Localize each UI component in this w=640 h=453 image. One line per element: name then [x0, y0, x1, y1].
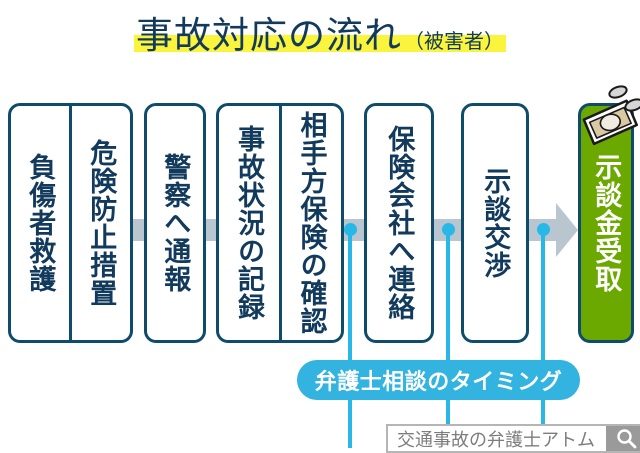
- timing-marker-dot-1: [344, 223, 357, 236]
- step-group-2[interactable]: 警察へ通報: [144, 103, 206, 343]
- lawyer-timing-callout[interactable]: 弁護士相談のタイミング: [297, 360, 580, 400]
- search-icon: [616, 428, 637, 449]
- timing-marker-dot-2: [442, 223, 455, 236]
- timing-marker-line-2: [446, 229, 450, 448]
- step-group-3[interactable]: 事故状況の記録 相手方保険の確認: [216, 103, 344, 343]
- title-main-text: 事故対応の流れ: [136, 18, 402, 55]
- timing-marker-line-3: [541, 229, 545, 448]
- step-box-5[interactable]: 相手方保険の確認: [279, 106, 342, 340]
- step-label-7: 示談交渉: [481, 167, 510, 279]
- step-group-5[interactable]: 示談交渉: [461, 103, 529, 343]
- step-box-2[interactable]: 危険防止措置: [69, 106, 130, 340]
- step-label-3: 警察へ通報: [161, 153, 190, 293]
- step-box-1[interactable]: 負傷者救護: [11, 106, 69, 340]
- step-label-1: 負傷者救護: [26, 153, 55, 293]
- step-group-1[interactable]: 負傷者救護 危険防止措置: [8, 103, 133, 343]
- search-button[interactable]: [606, 426, 640, 451]
- page-title: 事故対応の流れ （被害者）: [0, 8, 640, 64]
- step-box-4[interactable]: 事故状況の記録: [219, 106, 279, 340]
- step-label-4: 事故状況の記録: [234, 125, 263, 321]
- search-bar[interactable]: 交通事故の弁護士アトム: [386, 424, 640, 453]
- timing-marker-dot-3: [537, 223, 550, 236]
- search-input[interactable]: 交通事故の弁護士アトム: [388, 426, 606, 451]
- step-label-2: 危険防止措置: [87, 139, 116, 307]
- step-label-6: 保険会社へ連絡: [385, 125, 414, 321]
- step-box-3[interactable]: 警察へ通報: [147, 106, 203, 340]
- flow-diagram: 負傷者救護 危険防止措置 警察へ通報 事故状況の記録 相手方保険の確認 保険会社…: [0, 85, 640, 355]
- title-sub-text: （被害者）: [404, 32, 504, 52]
- lawyer-timing-callout-label: 弁護士相談のタイミング: [315, 364, 563, 396]
- step-box-7[interactable]: 示談交渉: [464, 106, 526, 340]
- step-label-5: 相手方保険の確認: [297, 111, 326, 335]
- final-step-label: 示談金受取: [592, 153, 621, 293]
- step-group-4[interactable]: 保険会社へ連絡: [364, 103, 434, 343]
- final-step-box[interactable]: 示談金受取: [578, 103, 634, 343]
- step-box-6[interactable]: 保険会社へ連絡: [367, 106, 431, 340]
- timing-marker-line-1: [348, 229, 352, 448]
